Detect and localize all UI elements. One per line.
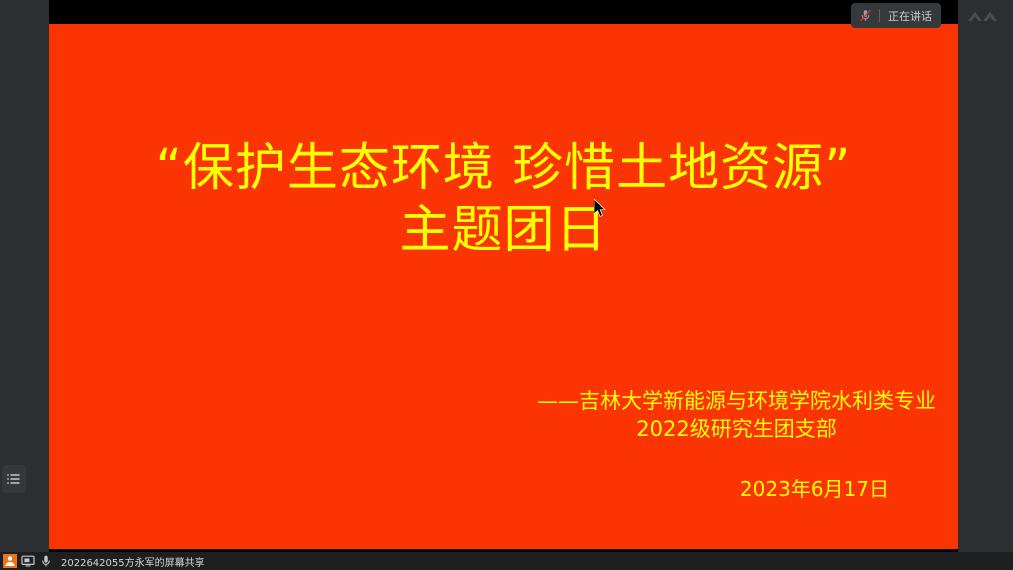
shared-screen-stage: “保护生态环境 珍惜土地资源” 主题团日 ——吉林大学新能源与环境学院水利类专业…: [49, 0, 958, 552]
list-view-icon: [6, 471, 22, 487]
slide-subtitle-line1: ——吉林大学新能源与环境学院水利类专业: [537, 389, 936, 413]
speaking-status-label: 正在讲话: [888, 8, 932, 24]
collapse-chevron-icon[interactable]: [966, 8, 1002, 24]
participant-icon[interactable]: [3, 554, 17, 568]
screen-share-icon[interactable]: [21, 554, 35, 568]
bottom-status-bar: 2022642055方永军的屏幕共享: [0, 552, 1013, 570]
zoom-meeting-window: “保护生态环境 珍惜土地资源” 主题团日 ——吉林大学新能源与环境学院水利类专业…: [0, 0, 1013, 570]
left-side-panel: [0, 0, 49, 552]
list-view-button[interactable]: [2, 465, 26, 493]
presentation-slide: “保护生态环境 珍惜土地资源” 主题团日 ——吉林大学新能源与环境学院水利类专业…: [49, 24, 958, 549]
right-side-panel: [958, 0, 1013, 552]
slide-date: 2023年6月17日: [740, 473, 889, 502]
toolbar-divider: [879, 9, 880, 22]
slide-title: “保护生态环境 珍惜土地资源” 主题团日: [49, 138, 958, 262]
slide-title-line1: “保护生态环境 珍惜土地资源”: [155, 139, 851, 198]
slide-title-line2: 主题团日: [49, 200, 958, 262]
slide-subtitle-line2: 2022级研究生团支部: [537, 415, 936, 443]
microphone-icon[interactable]: [39, 554, 53, 568]
slide-subtitle: ——吉林大学新能源与环境学院水利类专业 2022级研究生团支部: [537, 387, 936, 443]
shared-screen-label: 2022642055方永军的屏幕共享: [61, 554, 205, 569]
speaking-status-toolbar[interactable]: 正在讲话: [851, 3, 941, 28]
mic-muted-icon[interactable]: [858, 8, 873, 23]
